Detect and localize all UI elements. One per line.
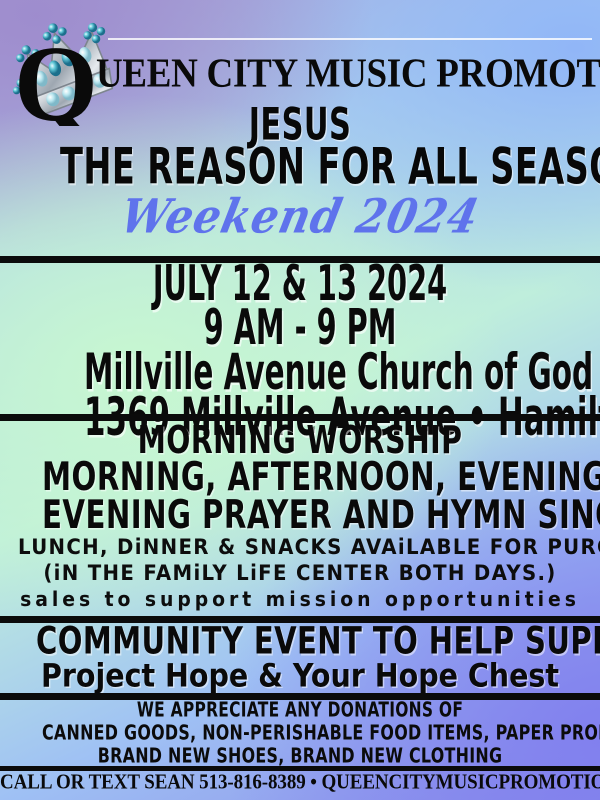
community-beneficiaries: Project Hope & Your Hope Chest <box>15 658 585 696</box>
food-line-2: (iN THE FAMiLY LiFE CENTER BOTH DAYS.) <box>18 560 582 586</box>
community-heading: COMMUNITY EVENT TO HELP SUPPORT <box>36 619 564 661</box>
worship-block: MORNING WORSHIP MORNING, AFTERNOON, EVEN… <box>0 422 600 613</box>
community-block: COMMUNITY EVENT TO HELP SUPPORT Project … <box>0 622 600 695</box>
donations-block: WE APPRECIATE ANY DONATIONS OF CANNED GO… <box>0 700 600 768</box>
donations-line-1: WE APPRECIATE ANY DONATIONS OF <box>42 699 558 724</box>
food-line-3: sales to support mission opportunities <box>18 586 582 613</box>
brand-title: UEEN CITY MUSIC PROMOTIONS <box>96 49 596 97</box>
worship-line-3: EVENING PRAYER AND HYMN SING <box>42 493 558 537</box>
food-line-1: LUNCH, DiNNER & SNACKS AVAiLABLE FOR PUR… <box>18 534 582 560</box>
weekend-script: Weekend 2024 <box>0 189 600 244</box>
brand-rest: UEEN CITY MUSIC PROMOTIONS <box>96 51 600 97</box>
footer-contact: CALL OR TEXT SEAN 513-816-8389 • QUEENCI… <box>0 771 600 796</box>
event-flyer: Q UEEN CITY MUSIC PROMOTIONS JESUS THE R… <box>0 0 600 800</box>
theme-block: JESUS THE REASON FOR ALL SEASONS Weekend… <box>0 104 600 241</box>
donations-line-2: CANNED GOODS, NON-PERISHABLE FOOD ITEMS,… <box>42 721 558 747</box>
theme-line-2: THE REASON FOR ALL SEASONS <box>60 140 540 194</box>
header-hairline-divider <box>108 38 592 40</box>
